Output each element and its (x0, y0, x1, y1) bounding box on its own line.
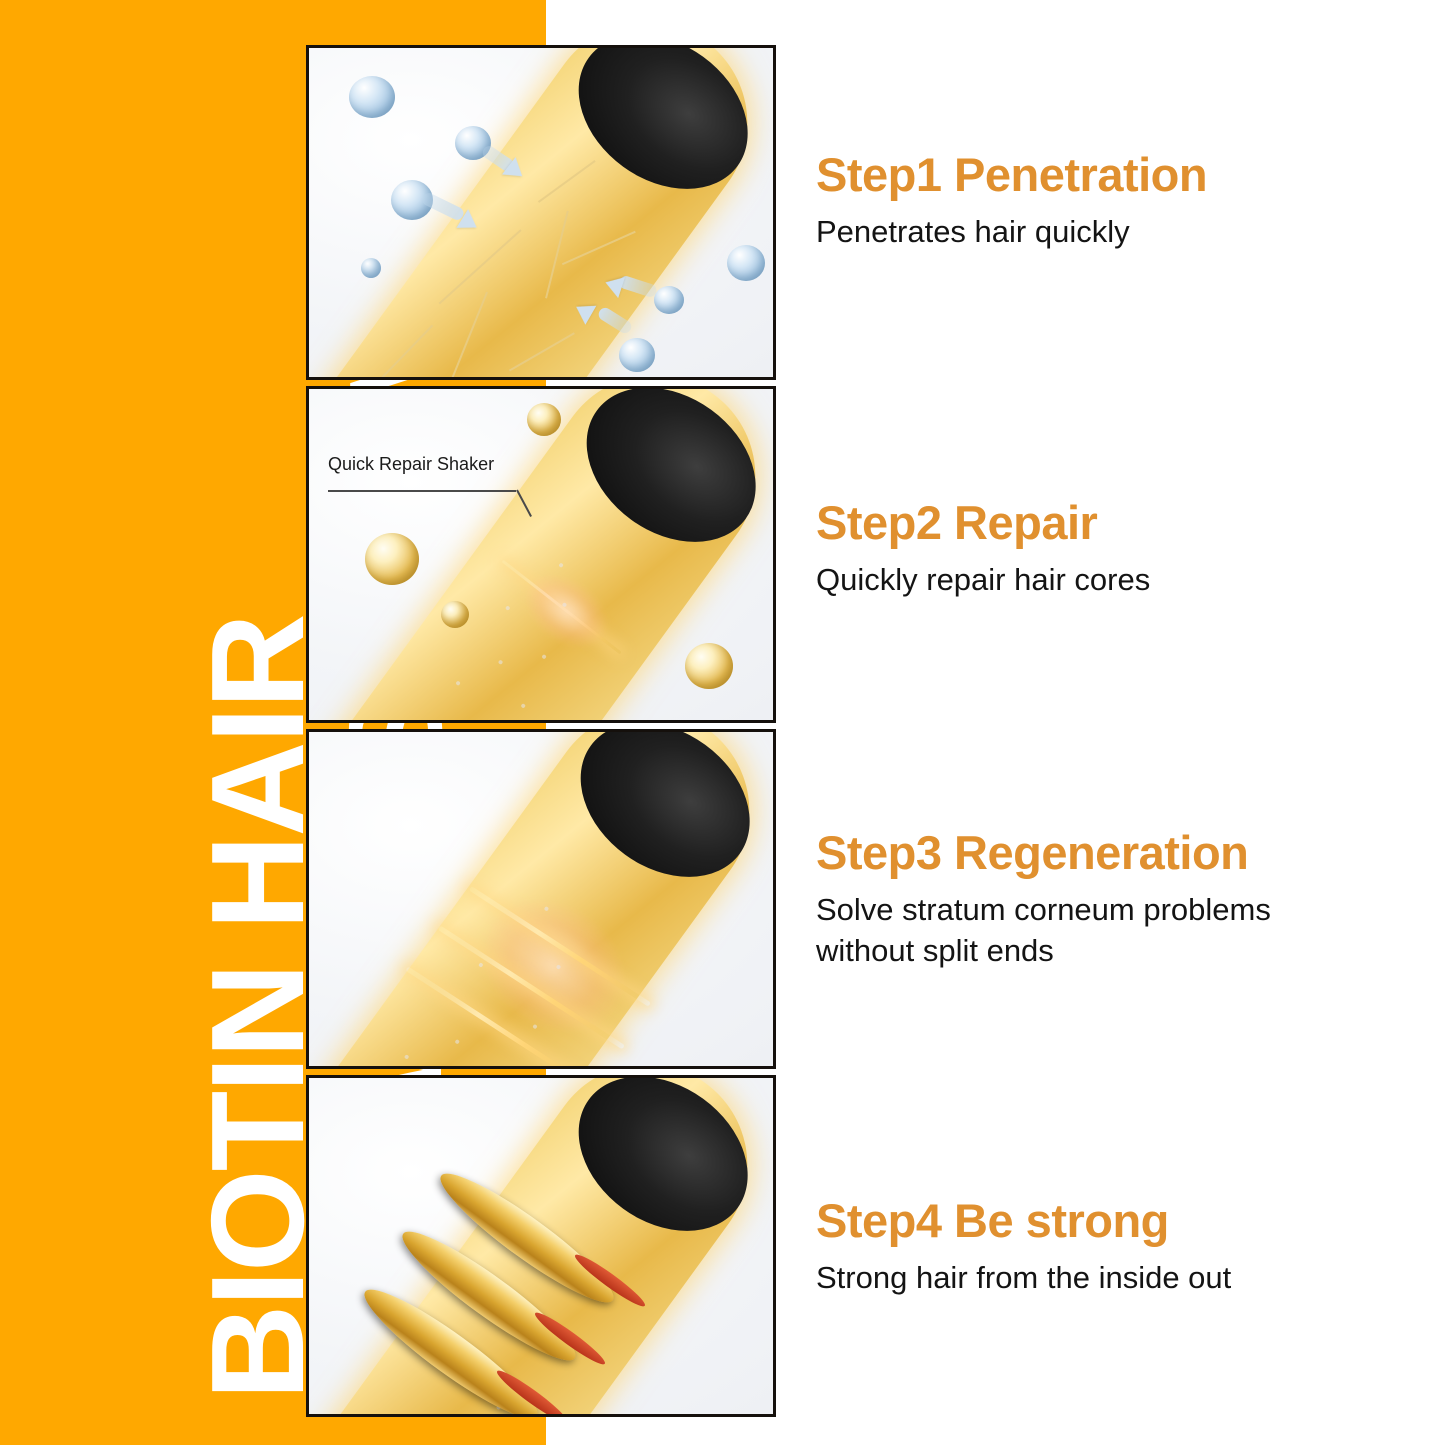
hair-crack-icon (373, 325, 433, 377)
brand-title-line-1: BIOTIN HAIR (192, 615, 324, 1400)
panel2-scene: Quick Repair Shaker (309, 389, 773, 720)
gold-serum-droplet-icon (527, 403, 561, 436)
hair-shaft-icon (333, 732, 773, 1066)
hair-crack-icon (545, 211, 569, 299)
hair-shaft-cap (557, 389, 773, 574)
step-3-title: Step3 Regeneration (816, 828, 1416, 877)
hair-shaft-cap (549, 48, 773, 221)
step-1-description: Penetrates hair quickly (816, 212, 1416, 253)
hair-crack-icon (562, 231, 636, 265)
step-3-description-line-1: Solve stratum corneum problems (816, 890, 1416, 931)
gold-serum-droplet-icon (441, 601, 469, 628)
step-2-title: Step2 Repair (816, 498, 1416, 547)
water-droplet-icon (361, 258, 381, 278)
gold-serum-droplet-icon (685, 643, 733, 689)
panel1-scene (309, 48, 773, 377)
quick-repair-shaker-label: Quick Repair Shaker (328, 454, 494, 475)
callout-leader-line (328, 490, 516, 492)
step-4-description: Strong hair from the inside out (816, 1258, 1416, 1299)
hair-crack-icon (451, 292, 488, 377)
illustration-panel-step1 (306, 45, 776, 380)
step-3-description: Solve stratum corneum problems without s… (816, 890, 1416, 972)
step-1-title: Step1 Penetration (816, 150, 1416, 199)
step-4-description-line-1: Strong hair from the inside out (816, 1258, 1416, 1299)
water-droplet-icon (654, 286, 684, 314)
water-droplet-icon (619, 338, 655, 372)
panel3-scene (309, 732, 773, 1066)
panel4-scene (309, 1078, 773, 1414)
hair-shaft-cap (549, 1078, 773, 1263)
gold-serum-droplet-icon (365, 533, 419, 585)
water-droplet-icon (727, 245, 765, 281)
step-block-2: Step2 Repair Quickly repair hair cores (816, 498, 1416, 601)
hair-crack-icon (439, 229, 522, 304)
step-1-description-line-1: Penetrates hair quickly (816, 212, 1416, 253)
illustration-panel-step4 (306, 1075, 776, 1417)
product-infographic: BIOTIN HAIR GROWTH SERUM (0, 0, 1445, 1445)
step-block-4: Step4 Be strong Strong hair from the ins… (816, 1196, 1416, 1299)
step-block-1: Step1 Penetration Penetrates hair quickl… (816, 150, 1416, 253)
step-text-column: Step1 Penetration Penetrates hair quickl… (816, 0, 1416, 1445)
hair-shaft-cap (551, 732, 773, 909)
step-2-description: Quickly repair hair cores (816, 560, 1416, 601)
core-glow (512, 560, 620, 661)
illustration-panel-step3 (306, 729, 776, 1069)
step-3-description-line-2: without split ends (816, 931, 1416, 972)
step-2-description-line-1: Quickly repair hair cores (816, 560, 1416, 601)
illustration-panel-column: Quick Repair Shaker (306, 45, 776, 1417)
water-droplet-icon (349, 76, 395, 118)
hair-crack-icon (538, 160, 596, 203)
hair-crack-icon (509, 332, 575, 371)
step-4-title: Step4 Be strong (816, 1196, 1416, 1245)
step-block-3: Step3 Regeneration Solve stratum corneum… (816, 828, 1416, 972)
illustration-panel-step2: Quick Repair Shaker (306, 386, 776, 723)
